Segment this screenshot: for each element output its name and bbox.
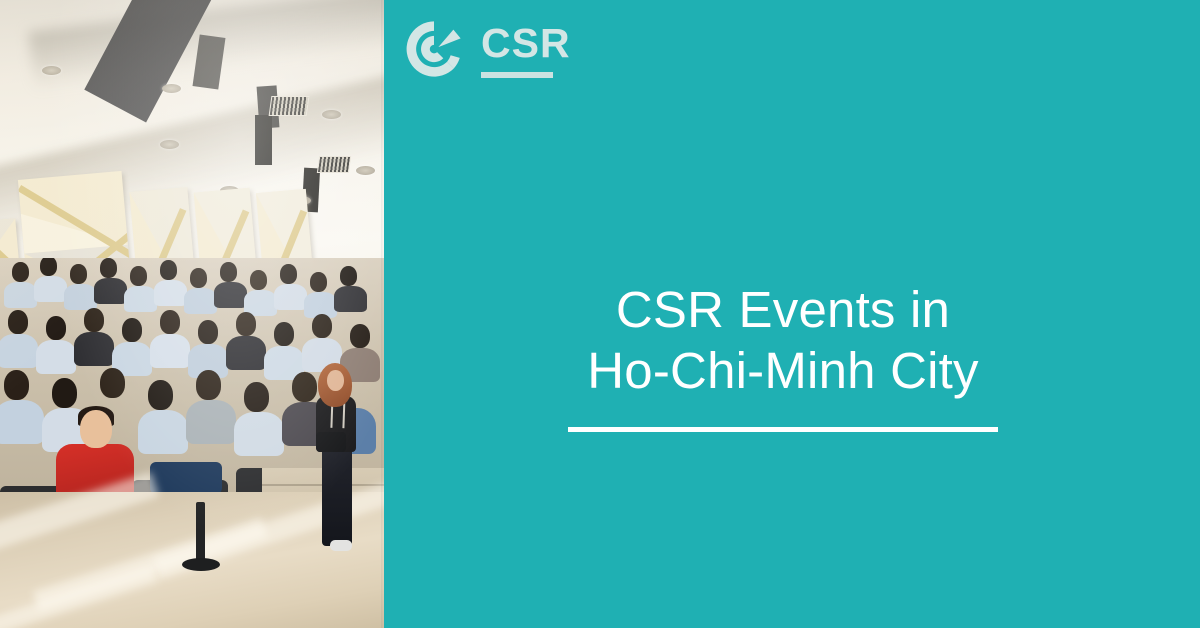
brand-underline	[481, 72, 553, 78]
ceiling-air-vent	[269, 96, 310, 116]
backpack	[150, 462, 222, 494]
walking-woman-legs	[322, 446, 352, 546]
ceiling-downlight	[162, 84, 181, 93]
page-title-line-1: CSR Events in	[403, 280, 1163, 341]
headline-block: CSR Events in Ho-Chi-Minh City	[403, 280, 1163, 432]
ceiling-downlight	[160, 140, 179, 149]
csr-logo-icon	[403, 18, 465, 80]
lecture-hall-photo	[0, 0, 384, 628]
walking-woman-camera	[316, 432, 346, 452]
page-title: CSR Events in Ho-Chi-Minh City	[403, 280, 1163, 401]
ceiling-air-vent	[317, 156, 351, 173]
aisle-stanchion	[196, 502, 205, 564]
brand-wordmark: CSR	[481, 23, 571, 64]
aisle-stanchion-base	[182, 558, 220, 571]
csr-event-banner: CSR CSR Events in Ho-Chi-Minh City	[0, 0, 1200, 628]
seated-student-head	[80, 410, 112, 448]
brand-wordmark-wrap: CSR	[481, 21, 571, 78]
ceiling-downlight	[322, 110, 341, 119]
page-title-line-2: Ho-Chi-Minh City	[403, 341, 1163, 402]
brand-lockup[interactable]: CSR	[403, 18, 571, 80]
walking-woman-face	[327, 370, 344, 391]
ceiling-downlight	[42, 66, 61, 75]
ceiling-downlight	[356, 166, 375, 175]
headline-underline	[568, 427, 998, 432]
walking-woman-shoe	[330, 540, 352, 551]
